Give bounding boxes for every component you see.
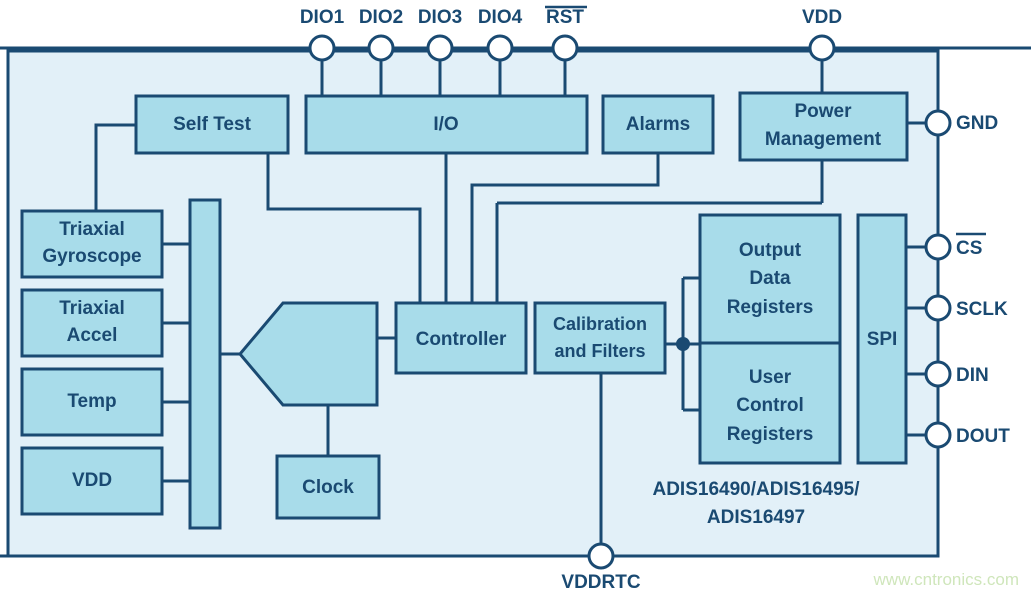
block-spi-label: SPI [867,329,898,350]
pin-dio4 [488,36,512,60]
block-power-management-label-1: Power [794,101,852,122]
right-pin-labels: GND CS SCLK DIN DOUT [956,113,1010,447]
pin-label-dout: DOUT [956,426,1010,447]
block-calibration-label-1: Calibration [553,314,647,334]
pin-label-din: DIN [956,365,989,386]
block-triaxial-gyroscope-label-1: Triaxial [59,219,125,240]
block-triaxial-gyroscope-label-2: Gyroscope [42,246,141,267]
block-user-control-registers-label-2: Control [736,395,804,416]
block-output-data-registers-label-2: Data [749,268,791,289]
block-diagram-figure: Self Test I/O Alarms Power Management Tr… [0,0,1031,598]
block-calibration-label-2: and Filters [554,341,645,361]
pin-din [926,362,950,386]
part-number-line-2: ADIS16497 [707,507,805,528]
pin-label-dio3: DIO3 [418,7,462,28]
pin-vddrtc [589,544,613,568]
pin-label-vdd: VDD [802,7,842,28]
watermark-text: www.cntronics.com [873,570,1019,589]
pin-dout [926,423,950,447]
pin-label-dio2: DIO2 [359,7,403,28]
pin-vdd [810,36,834,60]
pin-dio3 [428,36,452,60]
block-clock-label: Clock [302,477,354,498]
block-io-label: I/O [433,114,458,135]
block-user-control-registers-label-3: Registers [727,424,814,445]
register-bus-junction-dot [676,337,690,351]
block-temp-label: Temp [67,391,116,412]
block-self-test-label: Self Test [173,114,251,135]
block-triaxial-accel-label-1: Triaxial [59,298,125,319]
pin-label-sclk: SCLK [956,299,1008,320]
pin-sclk [926,296,950,320]
pin-label-gnd: GND [956,113,998,134]
block-user-control-registers-label-1: User [749,367,792,388]
pin-label-cs: CS [956,238,982,259]
pin-gnd [926,111,950,135]
block-controller-label: Controller [416,329,507,350]
block-power-management-label-2: Management [765,129,882,150]
pin-dio2 [369,36,393,60]
pin-label-rst: RST [546,7,584,28]
part-number-line-1: ADIS16490/ADIS16495/ [652,479,860,500]
block-vdd-sensor-label: VDD [72,470,112,491]
top-pin-labels: DIO1 DIO2 DIO3 DIO4 RST VDD [300,7,842,28]
pin-label-dio4: DIO4 [478,7,523,28]
block-output-data-registers-label-1: Output [739,240,802,261]
block-output-data-registers-label-3: Registers [727,297,814,318]
pin-dio1 [310,36,334,60]
pin-label-dio1: DIO1 [300,7,345,28]
pin-label-vddrtc: VDDRTC [561,572,640,593]
block-triaxial-accel-label-2: Accel [67,325,118,346]
block-sensor-bus [190,200,220,528]
block-alarms-label: Alarms [626,114,690,135]
adis-block-diagram-svg: Self Test I/O Alarms Power Management Tr… [0,0,1031,598]
pin-rst [553,36,577,60]
pin-cs [926,235,950,259]
